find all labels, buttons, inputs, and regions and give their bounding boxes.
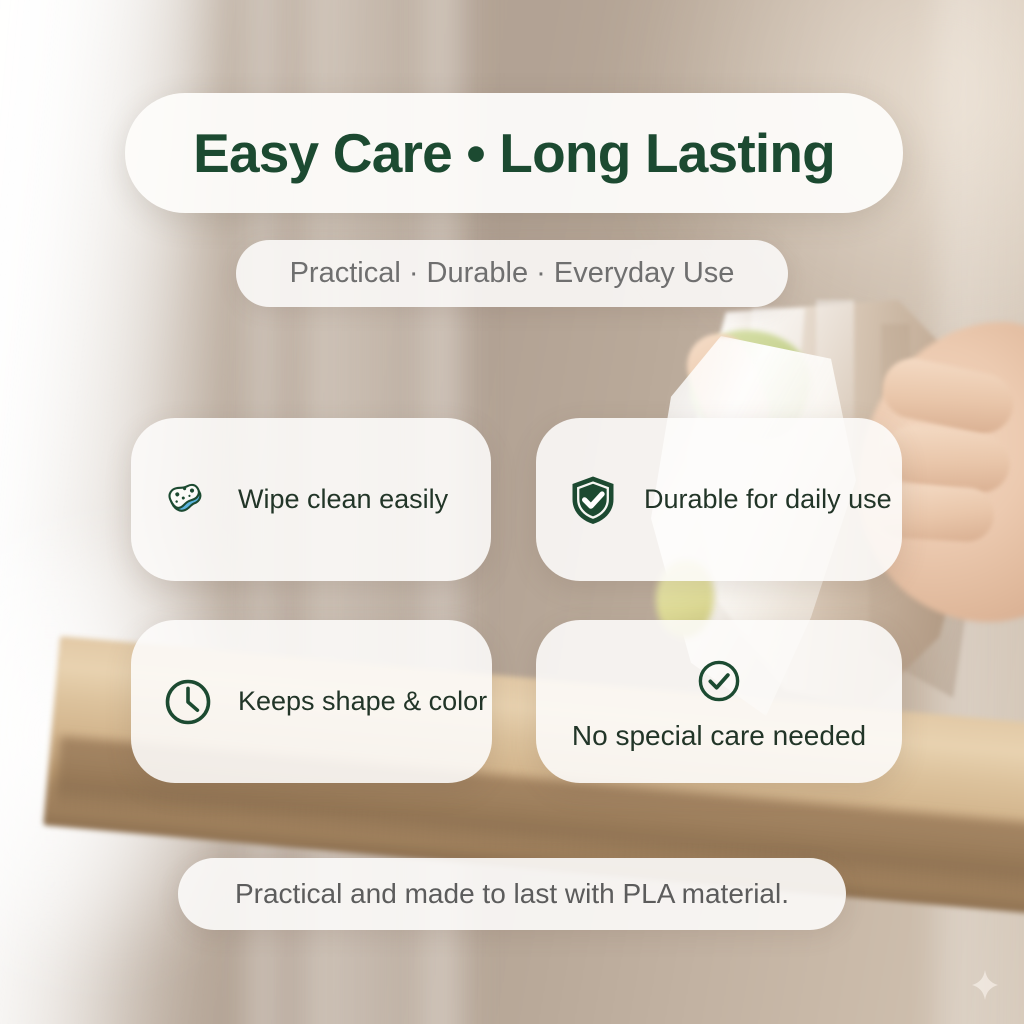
page-subtitle: Practical · Durable · Everyday Use [290,257,735,290]
feature-card-durable[interactable]: Durable for daily use [536,418,902,581]
feature-label: No special care needed [572,720,866,752]
subtitle-pill: Practical · Durable · Everyday Use [236,240,788,307]
sponge-icon [159,471,217,529]
feature-card-wipe-clean[interactable]: Wipe clean easily [131,418,491,581]
feature-label: Keeps shape & color [238,686,487,717]
overlay-content: Easy Care • Long Lasting Practical · Dur… [0,0,1024,1024]
feature-card-no-special-care[interactable]: No special care needed [536,620,902,783]
check-circle-icon [690,652,748,710]
feature-label: Durable for daily use [644,484,892,515]
clock-icon [159,673,217,731]
feature-card-keeps-shape[interactable]: Keeps shape & color [131,620,492,783]
footer-text: Practical and made to last with PLA mate… [235,878,789,910]
page-title: Easy Care • Long Lasting [193,121,835,185]
infographic-canvas: Easy Care • Long Lasting Practical · Dur… [0,0,1024,1024]
footer-pill: Practical and made to last with PLA mate… [178,858,846,930]
shield-check-icon [564,471,622,529]
sparkle-icon [968,968,1002,1002]
feature-label: Wipe clean easily [238,484,448,515]
title-pill: Easy Care • Long Lasting [125,93,903,213]
